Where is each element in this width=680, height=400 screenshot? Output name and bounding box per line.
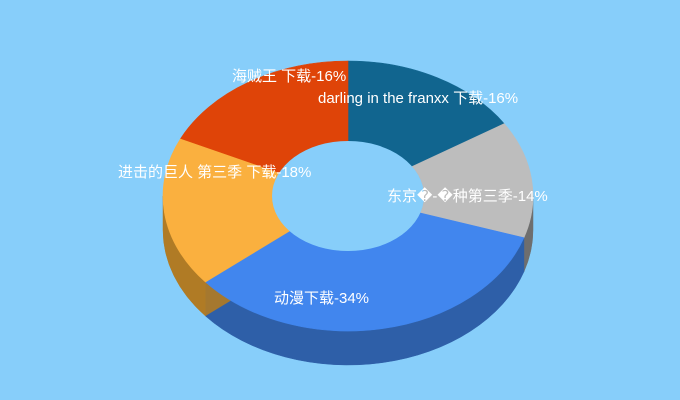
donut-hole bbox=[272, 141, 424, 251]
donut-top-faces bbox=[163, 61, 533, 331]
donut-chart-container: darling in the franxx 下载-16% 东京�-�种第三季-1… bbox=[0, 0, 680, 400]
donut-chart-svg bbox=[0, 0, 680, 400]
